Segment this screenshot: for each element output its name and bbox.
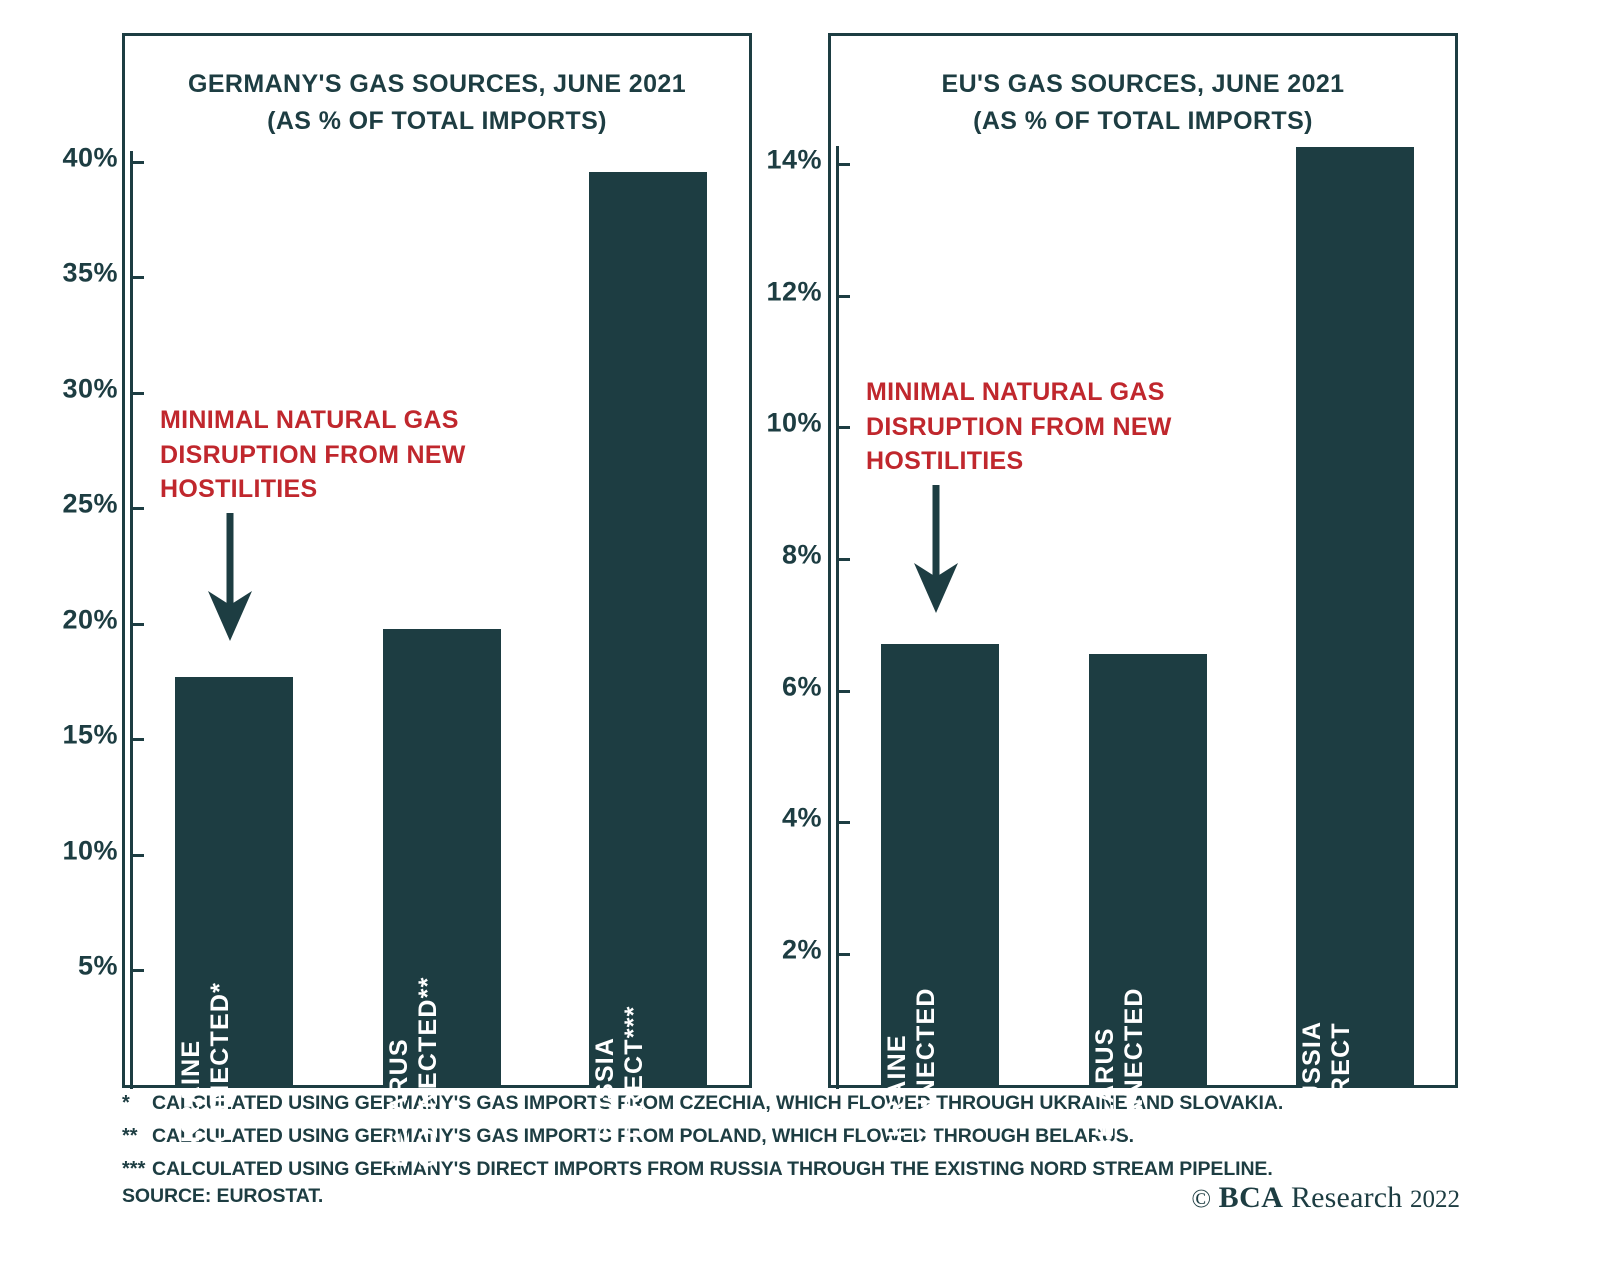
y-axis-tick [130, 276, 144, 279]
y-axis-tick-label: 40% [62, 143, 118, 174]
copyright-year: 2022 [1410, 1186, 1460, 1213]
y-axis-tick [836, 953, 850, 956]
copyright-word: Research [1291, 1181, 1403, 1214]
annotation-eu: MINIMAL NATURAL GAS DISRUPTION FROM NEW … [866, 375, 1206, 479]
bar: RUSSIA DIRECT*** [589, 172, 707, 1088]
y-axis-tick-label: 6% [782, 671, 822, 702]
y-axis-tick [130, 854, 144, 857]
bar: RUSSIA DIRECT [1296, 147, 1414, 1088]
bar-label: RUSSIA DIRECT [1298, 1022, 1355, 1123]
y-axis-spine-eu [836, 146, 839, 1089]
footnote-row: *CALCULATED USING GERMANY'S GAS IMPORTS … [122, 1092, 1467, 1125]
copyright-symbol: © [1191, 1184, 1211, 1213]
bar-label: UKRAINE CONNECTED [883, 987, 940, 1156]
y-axis-tick-label: 10% [62, 835, 118, 866]
y-axis-tick [130, 392, 144, 395]
y-axis-spine-germany [130, 151, 133, 1089]
y-axis-tick-label: 4% [782, 803, 822, 834]
y-axis-tick [836, 295, 850, 298]
y-axis-tick-label: 20% [62, 604, 118, 635]
y-axis-tick-label: 35% [62, 258, 118, 289]
bar: BELARUS CONNECTED** [383, 629, 501, 1088]
bar-label: BELARUS CONNECTED** [385, 976, 442, 1167]
y-axis-tick [836, 690, 850, 693]
down-arrow-icon-germany [200, 513, 260, 643]
y-axis-tick-label: 8% [782, 540, 822, 571]
y-axis-tick [130, 161, 144, 164]
copyright-brand: BCΑ [1219, 1181, 1284, 1214]
footnote-marker: * [122, 1093, 152, 1113]
y-axis-tick-label: 30% [62, 373, 118, 404]
y-axis-tick-label: 12% [766, 276, 822, 307]
y-axis-tick [130, 507, 144, 510]
y-axis-tick [836, 821, 850, 824]
footnote-marker: *** [122, 1159, 152, 1179]
bar-label: UKRAINE CONNECTED* [177, 982, 234, 1162]
y-axis-labels-germany: 40%35%30%25%20%15%10%5% [30, 0, 118, 1088]
y-axis-tick [130, 738, 144, 741]
footnote-text: CALCULATED USING GERMANY'S DIRECT IMPORT… [152, 1158, 1273, 1181]
copyright-bca-research: © BCΑ Research 2022 [1191, 1181, 1460, 1215]
annotation-germany: MINIMAL NATURAL GAS DISRUPTION FROM NEW … [160, 403, 500, 507]
y-axis-tick-label: 25% [62, 489, 118, 520]
y-axis-tick-label: 2% [782, 935, 822, 966]
y-axis-tick [130, 623, 144, 626]
y-axis-tick [836, 426, 850, 429]
y-axis-tick-label: 10% [766, 408, 822, 439]
chart-page: GERMANY'S GAS SOURCES, JUNE 2021 (AS % O… [0, 0, 1600, 1288]
bar: BELARUS CONNECTED [1089, 654, 1207, 1088]
bar: UKRAINE CONNECTED* [175, 677, 293, 1088]
footnotes: *CALCULATED USING GERMANY'S GAS IMPORTS … [122, 1092, 1467, 1191]
bar-label: RUSSIA DIRECT*** [591, 1005, 648, 1138]
source-line: SOURCE: EUROSTAT. [122, 1185, 323, 1208]
y-axis-tick [836, 163, 850, 166]
y-axis-tick-label: 5% [78, 951, 118, 982]
bar: UKRAINE CONNECTED [881, 644, 999, 1088]
y-axis-tick-label: 15% [62, 720, 118, 751]
y-axis-tick-label: 14% [766, 145, 822, 176]
down-arrow-icon-eu [906, 485, 966, 615]
footnote-row: **CALCULATED USING GERMANY'S GAS IMPORTS… [122, 1125, 1467, 1158]
y-axis-labels-eu: 14%12%10%8%6%4%2% [740, 0, 822, 1088]
footnote-marker: ** [122, 1126, 152, 1146]
bar-label: BELARUS CONNECTED [1091, 987, 1148, 1156]
y-axis-tick [836, 558, 850, 561]
y-axis-tick [130, 969, 144, 972]
